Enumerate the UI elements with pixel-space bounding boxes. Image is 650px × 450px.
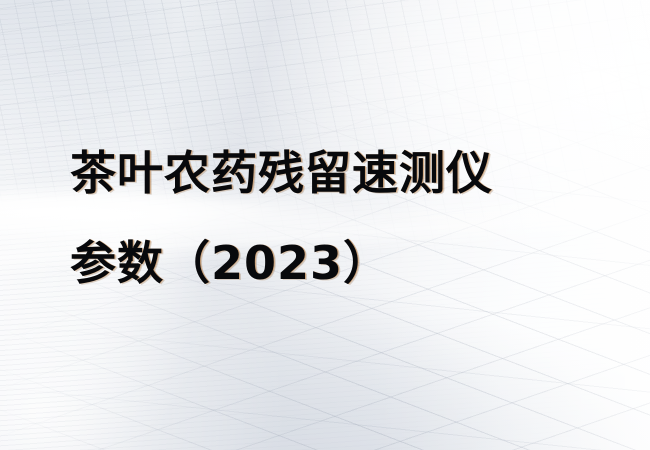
banner-title-line-2: 参数（2023） — [70, 218, 610, 308]
banner-title-line-1: 茶叶农药残留速测仪 — [70, 128, 610, 218]
title-banner: 茶叶农药残留速测仪 参数（2023） — [0, 0, 650, 450]
banner-title: 茶叶农药残留速测仪 参数（2023） — [70, 128, 610, 308]
